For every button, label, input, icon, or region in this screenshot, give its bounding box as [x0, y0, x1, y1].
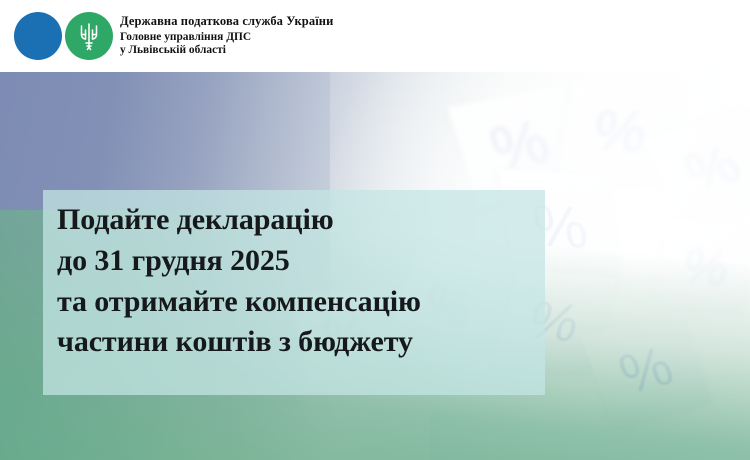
site-header: Державна податкова служба України Головн…	[0, 0, 750, 72]
banner-page: Державна податкова служба України Головн…	[0, 0, 750, 460]
headline-line-4: частини коштів з бюджету	[57, 322, 531, 363]
agency-logo	[8, 10, 112, 62]
logo-blue-circle-icon	[14, 12, 62, 60]
logo-green-circle-icon	[65, 12, 113, 60]
headline-line-1: Подайте декларацію	[57, 200, 531, 241]
headline-line-2: до 31 грудня 2025	[57, 241, 531, 282]
headline-line-3: та отримайте компенсацію	[57, 282, 531, 323]
headline-panel: Подайте декларацію до 31 грудня 2025 та …	[43, 190, 545, 395]
agency-subtitle-line1: Головне управління ДПС	[120, 31, 333, 44]
agency-name-block: Державна податкова служба України Головн…	[120, 15, 333, 57]
headline-text: Подайте декларацію до 31 грудня 2025 та …	[57, 200, 531, 363]
agency-title: Державна податкова служба України	[120, 15, 333, 31]
promo-banner: % % % % % % % %	[0, 72, 750, 460]
agency-subtitle-line2: у Львівській області	[120, 44, 333, 57]
ukraine-trident-icon	[78, 21, 100, 51]
